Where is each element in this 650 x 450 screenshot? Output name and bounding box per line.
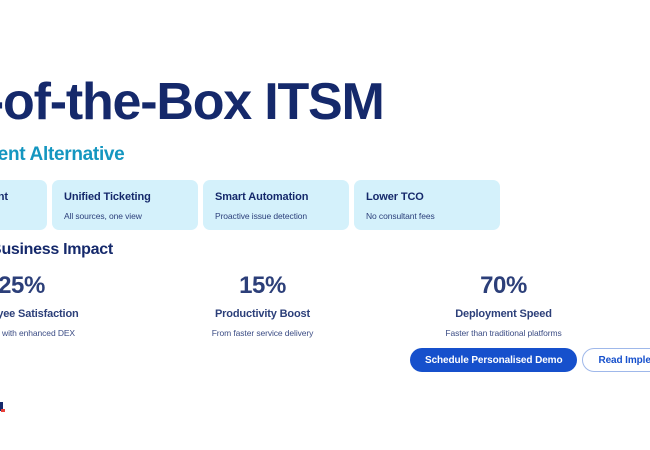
metric-productivity-boost: 15% Productivity Boost From faster servi… [142,272,383,339]
feature-card-lower-tco[interactable]: Lower TCO No consultant fees [354,180,500,230]
feature-card-rapid-deployment[interactable]: Rapid Deployment Days, not months [0,180,47,230]
feature-card-smart-automation[interactable]: Smart Automation Proactive issue detecti… [203,180,349,230]
page-subtitle: The Intelligent Alternative [0,143,124,167]
metric-deployment-speed: 70% Deployment Speed Faster than traditi… [383,272,624,339]
feature-card-subtitle: Days, not months [0,211,35,222]
schedule-demo-button[interactable]: Schedule Personalised Demo [410,348,577,372]
metric-label: Deployment Speed [383,308,624,321]
page-viewport: Out-of-the-Box ITSM The Intelligent Alte… [0,0,650,450]
metric-label: Employee Satisfaction [0,308,142,321]
metric-value: 15% [142,272,383,299]
metric-note: Increase with enhanced DEX [0,328,142,339]
feature-card-subtitle: No consultant fees [366,211,488,222]
feature-card-subtitle: Proactive issue detection [215,211,337,222]
metric-value: 70% [383,272,624,299]
metric-note: From faster service delivery [142,328,383,339]
page-content: Out-of-the-Box ITSM The Intelligent Alte… [0,0,650,450]
metric-note: Faster than traditional platforms [383,328,624,339]
metric-employee-satisfaction: 25% Employee Satisfaction Increase with … [0,272,142,339]
cta-button-row: Schedule Personalised Demo Read Implemen… [410,348,650,372]
feature-card-title: Smart Automation [215,191,337,204]
brand-mark-red-bar [1,409,5,412]
metric-label: Productivity Boost [142,308,383,321]
metric-value: 25% [0,272,142,299]
feature-card-title: Rapid Deployment [0,191,35,204]
brand-mark-icon [0,402,5,414]
feature-card-title: Unified Ticketing [64,191,186,204]
feature-card-title: Lower TCO [366,191,488,204]
page-title: Out-of-the-Box ITSM [0,73,650,131]
feature-card-list: Rapid Deployment Days, not months Unifie… [0,180,650,230]
feature-card-subtitle: All sources, one view [64,211,186,222]
read-implementation-guide-button[interactable]: Read Implementation Guide [582,348,650,372]
impact-metric-list: 25% Employee Satisfaction Increase with … [0,272,650,339]
feature-card-unified-ticketing[interactable]: Unified Ticketing All sources, one view [52,180,198,230]
impact-section-heading: Measurable Business Impact [0,240,113,260]
